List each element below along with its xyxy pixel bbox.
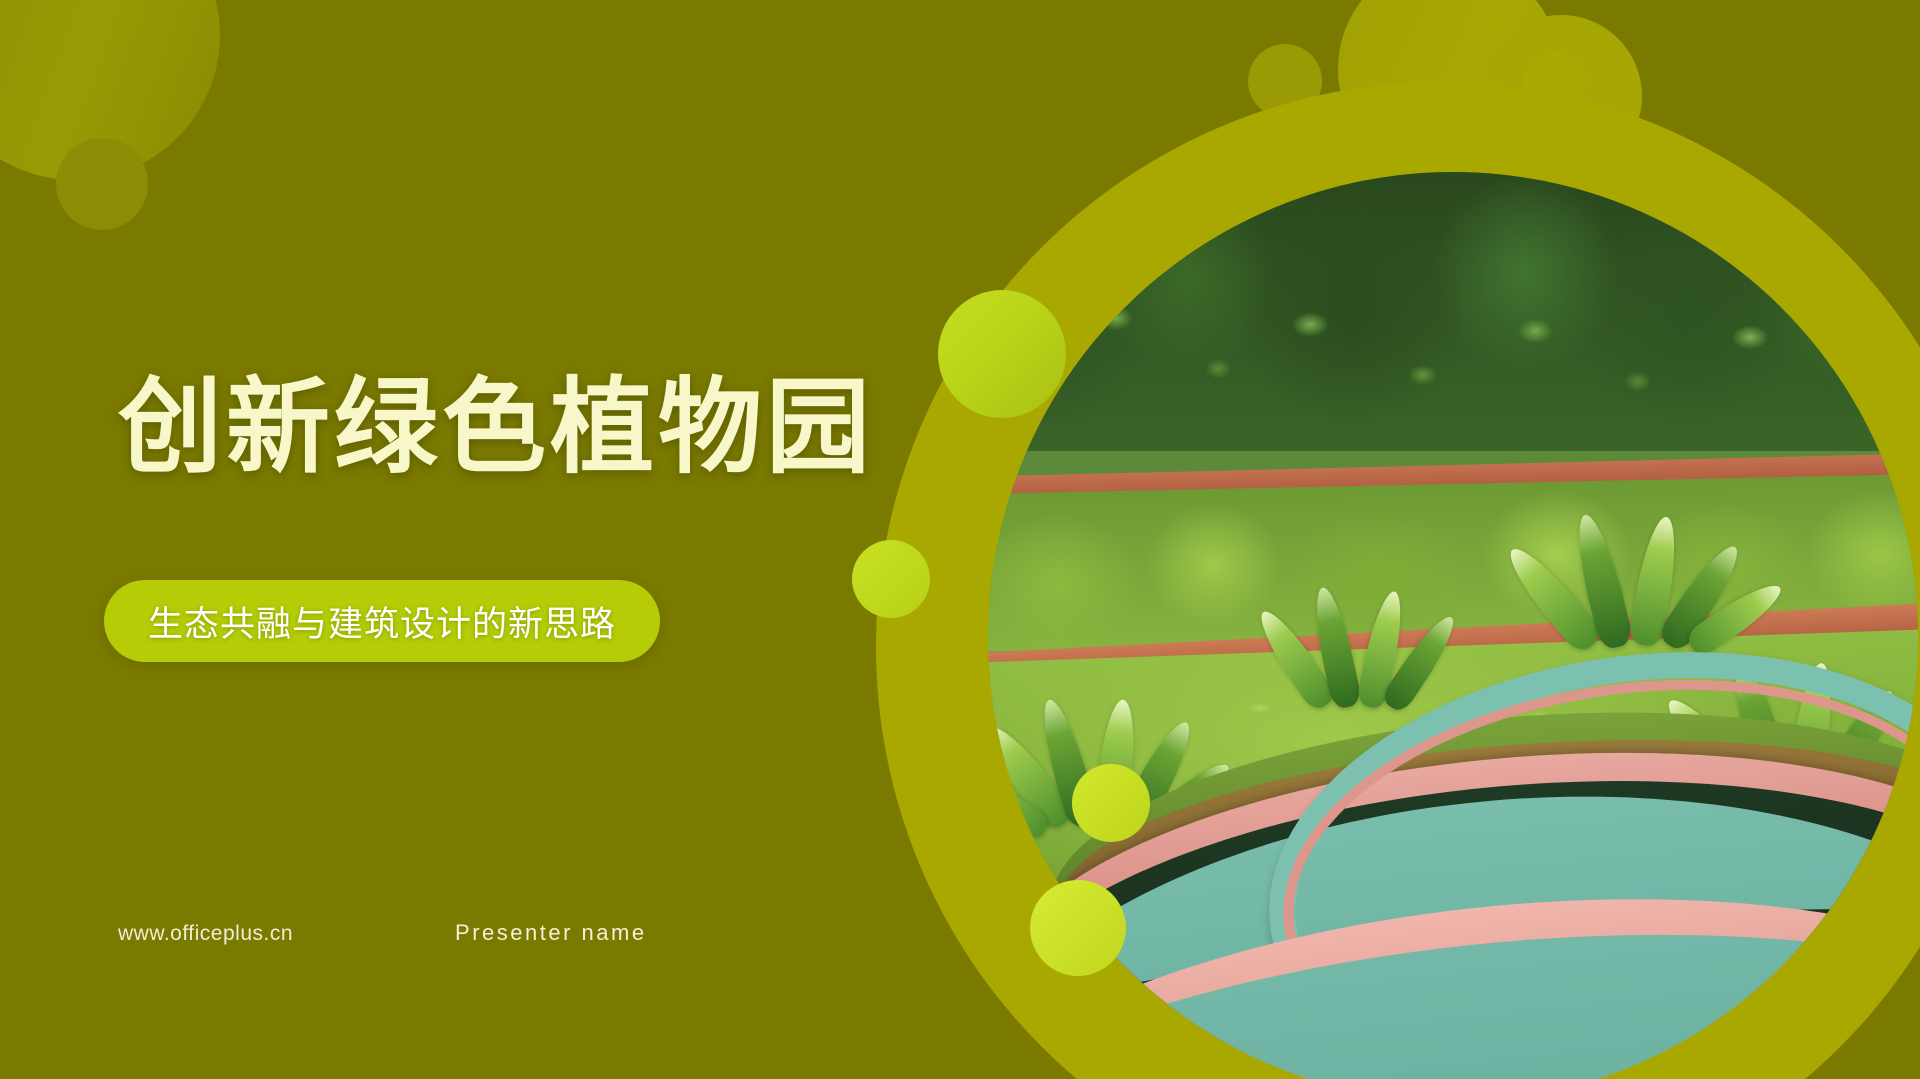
page-title: 创新绿色植物园 xyxy=(118,376,874,480)
subtitle-text: 生态共融与建筑设计的新思路 xyxy=(148,596,616,647)
slide-content: 创新绿色植物园 生态共融与建筑设计的新思路 www.officeplus.cn … xyxy=(0,0,1920,1079)
title-slide: 创新绿色植物园 生态共融与建筑设计的新思路 www.officeplus.cn … xyxy=(0,0,1920,1079)
footer: www.officeplus.cn Presenter name xyxy=(118,920,647,946)
footer-presenter-name: Presenter name xyxy=(455,920,647,946)
footer-website[interactable]: www.officeplus.cn xyxy=(118,922,293,946)
subtitle-pill: 生态共融与建筑设计的新思路 xyxy=(104,580,660,662)
